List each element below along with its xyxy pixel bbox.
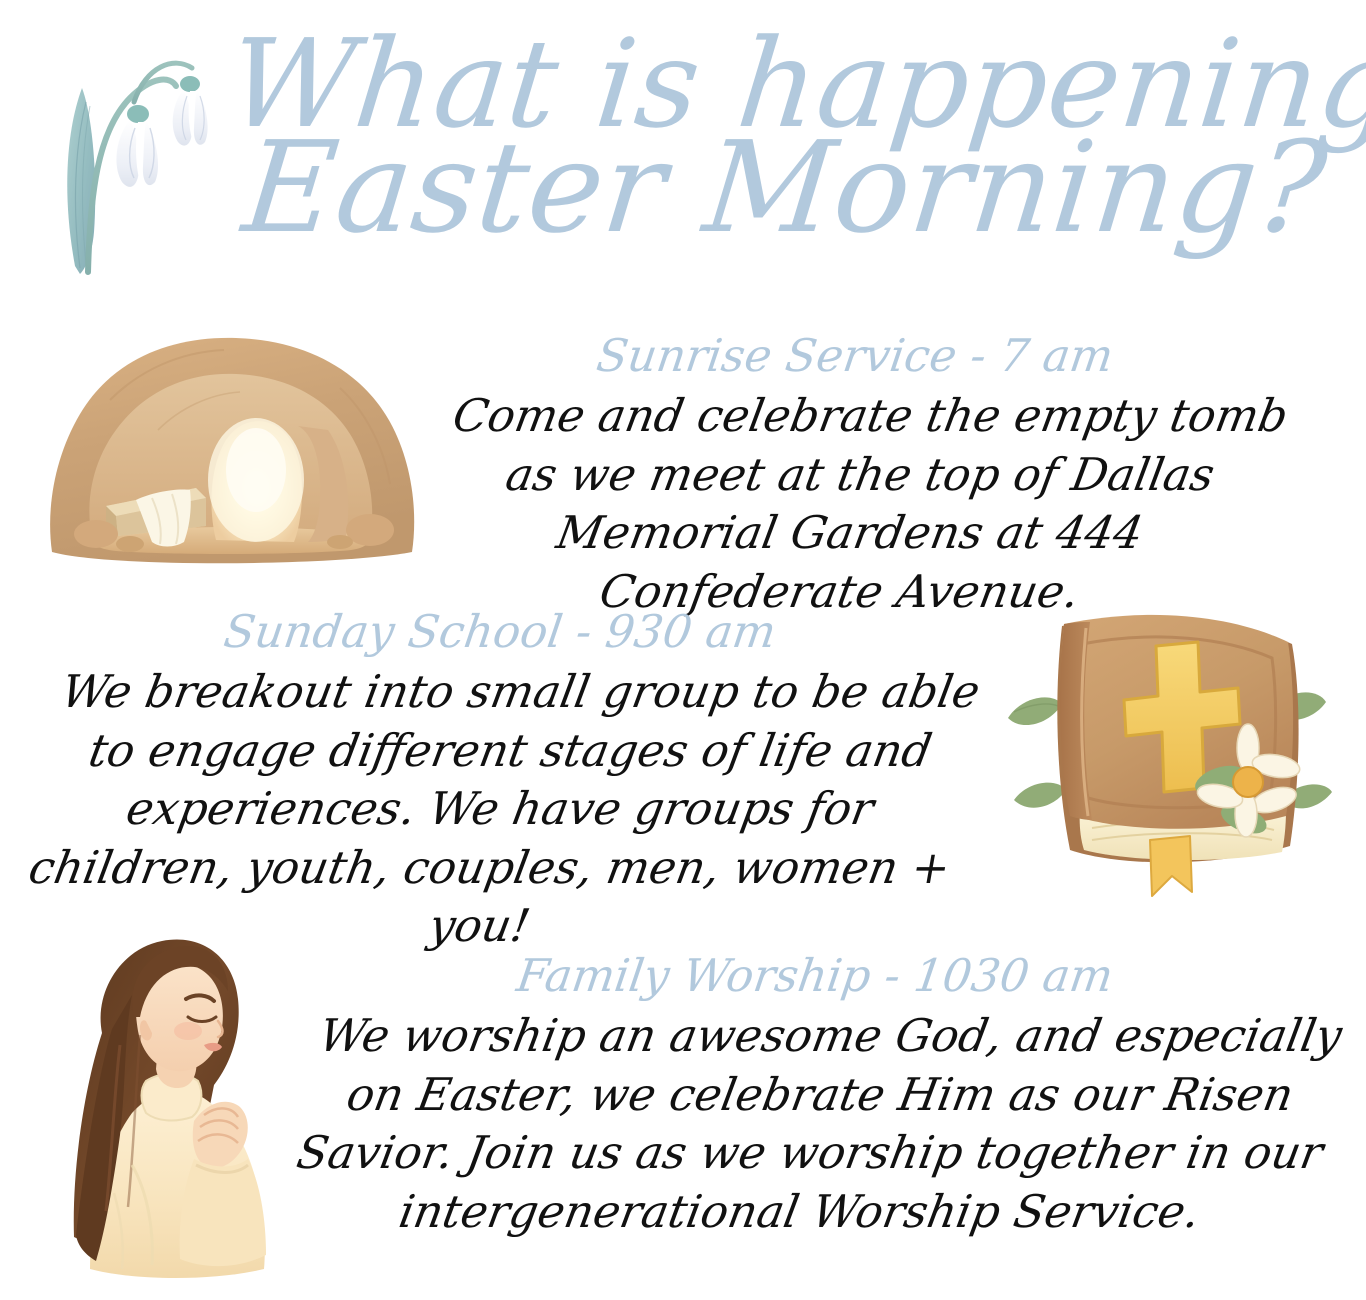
section-body-sunday-school: We breakout into small group to be able … <box>0 663 1006 956</box>
section-heading-family-worship: Family Worship - 1030 am <box>282 952 1349 999</box>
section-heading-sunday-school: Sunday School - 930 am <box>17 608 984 655</box>
section-sunday-school: Sunday School - 930 am We breakout into … <box>20 608 980 956</box>
title-line-2: Easter Morning? <box>224 130 1346 246</box>
section-sunrise-service: Sunrise Service - 7 am Come and celebrat… <box>415 332 1295 621</box>
empty-tomb-illustration <box>40 330 425 582</box>
bible-with-cross-illustration <box>1000 600 1340 900</box>
page-title: What is happening Easter Morning? <box>230 28 1340 246</box>
section-body-sunrise: Come and celebrate the empty tomb as we … <box>394 387 1315 621</box>
section-heading-sunrise: Sunrise Service - 7 am <box>412 332 1299 379</box>
snowdrop-flower-illustration <box>42 36 242 326</box>
section-body-family-worship: We worship an awesome God, and especiall… <box>264 1007 1365 1241</box>
section-family-worship: Family Worship - 1030 am We worship an a… <box>285 952 1345 1241</box>
